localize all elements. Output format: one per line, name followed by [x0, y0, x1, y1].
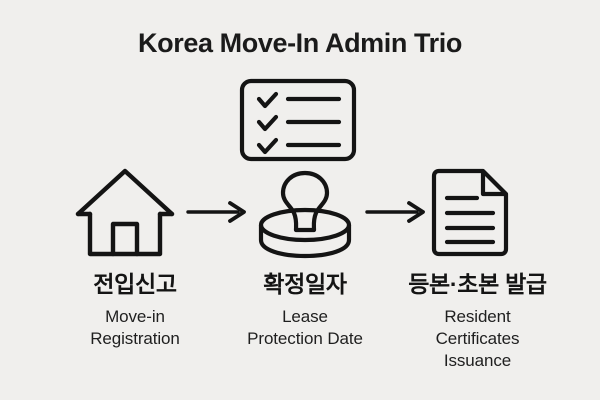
step-label-en: Lease Protection Date [215, 306, 395, 350]
checklist-icon [238, 77, 358, 163]
house-icon [70, 164, 180, 260]
arrow-right-icon-2 [365, 200, 427, 224]
step-label-move-in-registration: 전입신고 Move-in Registration [50, 270, 220, 350]
stamp-icon [255, 164, 355, 260]
step-label-en: Resident Certificates Issuance [375, 306, 580, 372]
step-label-ko: 전입신고 [50, 270, 220, 298]
step-label-ko: 등본·초본 발급 [375, 270, 580, 298]
page-title: Korea Move-In Admin Trio [0, 28, 600, 59]
step-label-en-line: Lease [215, 306, 395, 328]
infographic-canvas: Korea Move-In Admin Trio [0, 0, 600, 400]
step-label-en-line: Resident [375, 306, 580, 328]
flow-labels-row: 전입신고 Move-in Registration 확정일자 Lease Pro… [0, 270, 600, 390]
step-label-en-line: Certificates [375, 328, 580, 350]
step-label-resident-certificates-issuance: 등본·초본 발급 Resident Certificates Issuance [375, 270, 580, 372]
arrow-right-icon-1 [186, 200, 248, 224]
step-label-en-line: Protection Date [215, 328, 395, 350]
step-label-en-line: Move-in [50, 306, 220, 328]
flow-icon-row [0, 164, 600, 260]
document-icon [425, 164, 515, 260]
step-label-en: Move-in Registration [50, 306, 220, 350]
step-label-ko: 확정일자 [215, 270, 395, 298]
step-label-en-line: Registration [50, 328, 220, 350]
step-label-en-line: Issuance [375, 350, 580, 372]
step-label-lease-protection-date: 확정일자 Lease Protection Date [215, 270, 395, 350]
